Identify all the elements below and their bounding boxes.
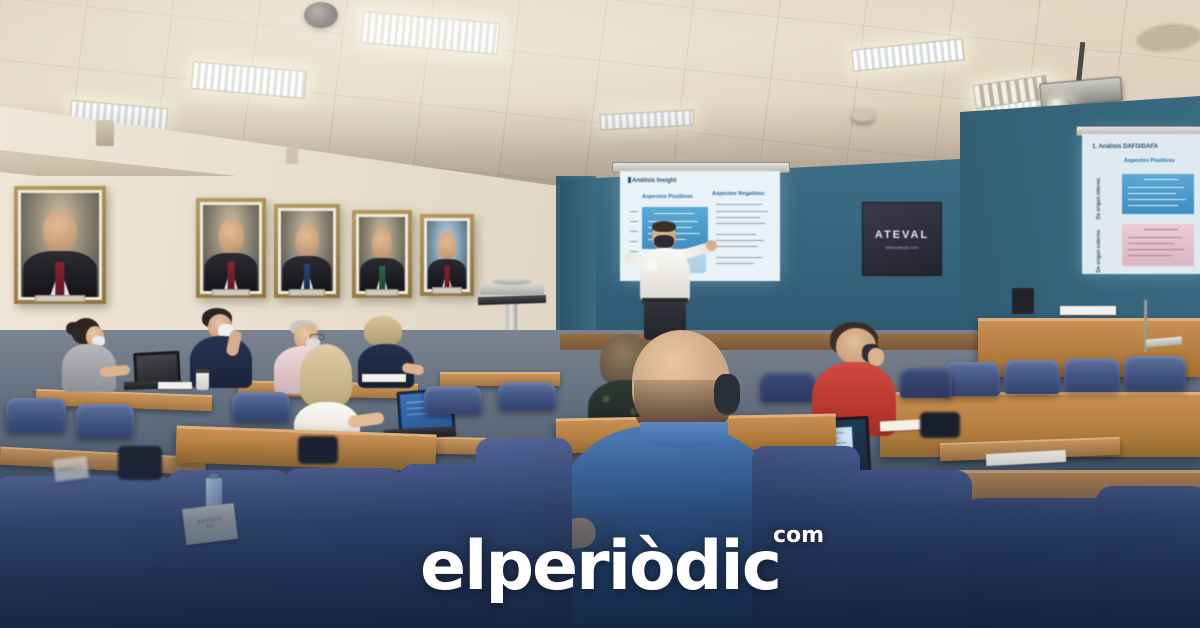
portrait-nameplate [35, 295, 85, 302]
left-slide-title: Análisis Insight [632, 178, 676, 184]
right-col-positive: Aspectos Positivos [1124, 158, 1175, 164]
left-col-negative: Aspectos Negativos [712, 191, 765, 197]
watermark: elperiòdic com [0, 527, 1200, 606]
wall-portrait [420, 214, 474, 296]
wall-portrait [274, 204, 340, 298]
ateval-brand-text: ATEVAL [875, 229, 929, 241]
wall-speaker-icon [96, 120, 114, 146]
watermark-brand: elperiòdic com [420, 527, 780, 606]
portrait-mat [18, 190, 102, 300]
presenter-hand-right [706, 240, 717, 251]
portrait-head [43, 210, 77, 252]
watermark-brand-text: elperiòdic [420, 527, 780, 606]
wall-portrait [14, 186, 106, 304]
auditorium-seat[interactable] [900, 368, 952, 398]
attendee-hair [300, 344, 352, 406]
wall-sensor-icon [286, 148, 298, 164]
right-slide-title: 1. Análisis DAFO/DAFA [1092, 144, 1158, 150]
right-row-internal: De origen interno [1096, 178, 1102, 219]
right-row-external: De origen externo [1096, 230, 1102, 273]
attendee-hair [364, 316, 402, 346]
auditorium-seat[interactable] [498, 382, 556, 410]
presenter [626, 222, 712, 340]
lectern-tray [492, 278, 532, 285]
bag-under-desk [920, 412, 960, 438]
right-slide-block-internal [1122, 174, 1194, 214]
wall-portrait [196, 198, 266, 298]
ateval-wall-sign: ATEVAL www.ateval.com [862, 202, 942, 276]
coffee-cup[interactable] [196, 372, 209, 390]
attendee-grey-top [52, 318, 128, 402]
auditorium-seat[interactable] [6, 398, 66, 432]
desk-papers-right [1060, 306, 1116, 315]
watermark-suffix: com [773, 523, 824, 548]
laptop-screen [136, 354, 177, 382]
auditorium-seat[interactable] [1064, 358, 1120, 392]
attendee-hair-bun [66, 322, 80, 335]
attendee-face-mask-strap [714, 374, 740, 414]
photo-scene: Análisis Insight Aspectos Positivos Aspe… [0, 0, 1200, 628]
attendee-arm [100, 364, 131, 377]
lectern-top [480, 284, 544, 295]
desk-papers [158, 382, 192, 389]
portrait-canvas [21, 193, 99, 297]
cup-lid [195, 369, 210, 373]
portrait-tie [55, 262, 64, 297]
desk-monitor-right [1012, 288, 1034, 314]
projection-screen-right: 1. Análisis DAFO/DAFA Aspectos Positivos… [1082, 134, 1200, 274]
auditorium-seat[interactable] [424, 386, 482, 414]
auditorium-seat[interactable] [1004, 360, 1060, 394]
auditorium-seat[interactable] [1124, 356, 1186, 390]
ateval-url-text: www.ateval.com [886, 245, 919, 250]
right-slide-block-external [1122, 224, 1194, 266]
left-col-positive: Aspectos Positivos [642, 194, 693, 200]
auditorium-seat[interactable] [232, 392, 290, 422]
presenter-hair [652, 221, 676, 232]
presenter-face-mask [654, 235, 674, 248]
auditorium-seat[interactable] [76, 404, 134, 438]
auditorium-seat[interactable] [944, 362, 1000, 396]
wall-portrait [352, 210, 412, 298]
